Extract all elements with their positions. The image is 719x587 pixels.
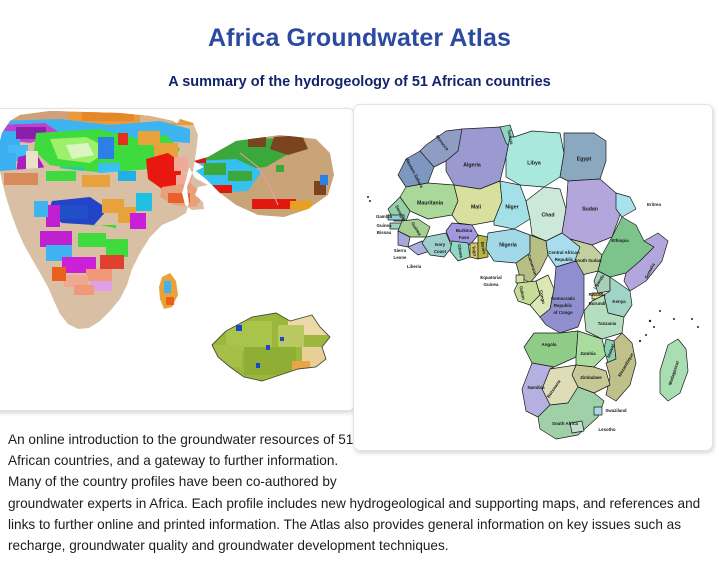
svg-text:Mali: Mali [471, 204, 482, 210]
africa-political-map-card[interactable]: Algeria Libya Egypt Mauritania Mali Nige… [353, 104, 713, 451]
hydrogeology-maps-collage [0, 109, 355, 411]
svg-text:Guinea: Guinea [484, 282, 499, 287]
intro-paragraph-block: An online introduction to the groundwate… [8, 429, 712, 556]
svg-text:Mauritania: Mauritania [417, 200, 443, 206]
svg-text:Zambia: Zambia [580, 351, 596, 356]
svg-text:Ethiopia: Ethiopia [611, 238, 629, 243]
svg-text:Central African: Central African [548, 250, 580, 255]
africa-political-country-map: Algeria Libya Egypt Mauritania Mali Nige… [354, 105, 713, 451]
svg-text:Liberia: Liberia [407, 264, 422, 269]
svg-text:Equatorial: Equatorial [480, 275, 501, 280]
svg-text:Democratic: Democratic [551, 296, 575, 301]
svg-text:Namibia: Namibia [527, 385, 545, 390]
svg-text:Faso: Faso [459, 235, 470, 240]
country-equatorial-guinea [516, 275, 524, 283]
svg-text:Angola: Angola [542, 342, 557, 347]
svg-text:Zimbabwe: Zimbabwe [580, 375, 602, 380]
svg-text:Sudan: Sudan [582, 206, 598, 212]
svg-text:Chad: Chad [542, 212, 555, 218]
svg-text:Egypt: Egypt [577, 156, 592, 162]
svg-text:Algeria: Algeria [463, 162, 481, 168]
svg-text:Burkina: Burkina [456, 228, 473, 233]
svg-text:Tanzania: Tanzania [598, 321, 617, 326]
svg-text:Gambia: Gambia [376, 214, 393, 219]
svg-text:Republic: Republic [555, 257, 574, 262]
page-subtitle: A summary of the hydrogeology of 51 Afri… [0, 74, 719, 90]
svg-text:Swaziland: Swaziland [605, 408, 627, 413]
svg-text:of Congo: of Congo [553, 310, 573, 315]
svg-text:Ivory: Ivory [435, 242, 446, 247]
text-wrap-spacer [354, 429, 712, 473]
svg-text:Libya: Libya [527, 160, 541, 166]
country-swaziland [594, 407, 602, 415]
svg-text:South Africa: South Africa [552, 421, 578, 426]
svg-text:Coast: Coast [434, 249, 447, 254]
svg-text:Eritrea: Eritrea [647, 202, 661, 207]
svg-text:Nigeria: Nigeria [499, 242, 517, 248]
svg-text:Republic: Republic [554, 303, 573, 308]
svg-text:Niger: Niger [505, 204, 518, 210]
svg-text:Leone: Leone [394, 255, 407, 260]
svg-text:Guinea: Guinea [377, 223, 392, 228]
country-libya [506, 131, 564, 187]
svg-text:Rwanda: Rwanda [589, 292, 606, 297]
svg-text:Bissau: Bissau [377, 230, 392, 235]
svg-text:South Sudan: South Sudan [574, 258, 601, 263]
svg-text:Kenya: Kenya [612, 299, 626, 304]
hydrogeology-maps-card[interactable] [0, 108, 355, 411]
svg-text:Burundi: Burundi [589, 301, 606, 306]
page-title: Africa Groundwater Atlas [0, 24, 719, 53]
svg-text:Sierra: Sierra [394, 248, 407, 253]
